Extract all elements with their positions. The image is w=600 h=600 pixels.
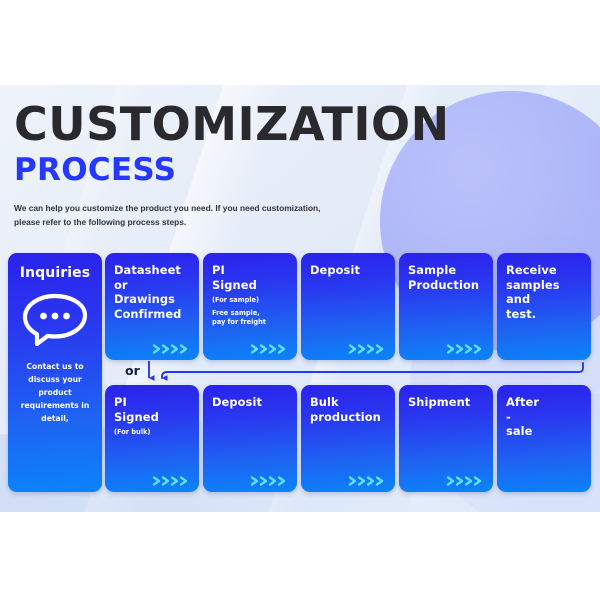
chevron-arrows-icon: [446, 475, 486, 487]
chevron-arrows-icon: [250, 343, 290, 355]
page-title: CUSTOMIZATION: [14, 100, 574, 148]
chevron-arrows-icon: [250, 475, 290, 487]
flow-node-label: Bulk production: [310, 395, 386, 424]
chevron-arrows-icon: [348, 475, 388, 487]
flow-node-receive-samples[interactable]: Receive samples and test.: [497, 253, 591, 360]
flow-node-bulk-production[interactable]: Bulk production: [301, 385, 395, 492]
flow-node-shipment[interactable]: Shipment: [399, 385, 493, 492]
chevron-arrows-icon: [152, 475, 192, 487]
flow-node-datasheet[interactable]: Datasheet or Drawings Confirmed: [105, 253, 199, 360]
or-connector-label: or: [125, 363, 140, 378]
flow-node-label: PI Signed: [114, 395, 190, 424]
flow-node-label: Inquiries: [16, 265, 94, 281]
flow-node-pi-signed-bulk[interactable]: PI Signed (For bulk): [105, 385, 199, 492]
intro-text: We can help you customize the product yo…: [14, 201, 574, 229]
flow-node-inquiries[interactable]: Inquiries Contact us to discuss your pro…: [8, 253, 102, 492]
flow-node-note: (For bulk): [114, 428, 190, 438]
flow-node-sample-production[interactable]: Sample Production: [399, 253, 493, 360]
flow-node-note-secondary: Free sample, pay for freight: [212, 309, 288, 328]
infographic-card: CUSTOMIZATION PROCESS We can help you cu…: [0, 85, 600, 512]
header: CUSTOMIZATION PROCESS We can help you cu…: [14, 100, 574, 229]
page-subtitle: PROCESS: [14, 154, 574, 187]
flow-node-note: Contact us to discuss your product requi…: [16, 360, 94, 425]
flow-node-label: Deposit: [212, 395, 288, 410]
flow-node-label: Receive samples and test.: [506, 263, 582, 321]
flow-node-label: Deposit: [310, 263, 386, 278]
flow-node-label: Shipment: [408, 395, 484, 410]
chevron-arrows-icon: [348, 343, 388, 355]
chevron-arrows-icon: [152, 343, 192, 355]
flow-node-label: PI Signed: [212, 263, 288, 292]
chevron-arrows-icon: [446, 343, 486, 355]
flow-node-note: (For sample): [212, 296, 288, 306]
flow-node-label: Sample Production: [408, 263, 484, 292]
flow-node-deposit-bulk[interactable]: Deposit: [203, 385, 297, 492]
flow-node-after-sale[interactable]: After - sale: [497, 385, 591, 492]
flow-node-pi-signed-sample[interactable]: PI Signed (For sample) Free sample, pay …: [203, 253, 297, 360]
flow-node-label: After - sale: [506, 395, 582, 439]
infographic-page: CUSTOMIZATION PROCESS We can help you cu…: [0, 0, 600, 600]
chat-bubble-icon: [21, 292, 89, 346]
flow-node-deposit-sample[interactable]: Deposit: [301, 253, 395, 360]
flow-node-label: Datasheet or Drawings Confirmed: [114, 263, 190, 321]
